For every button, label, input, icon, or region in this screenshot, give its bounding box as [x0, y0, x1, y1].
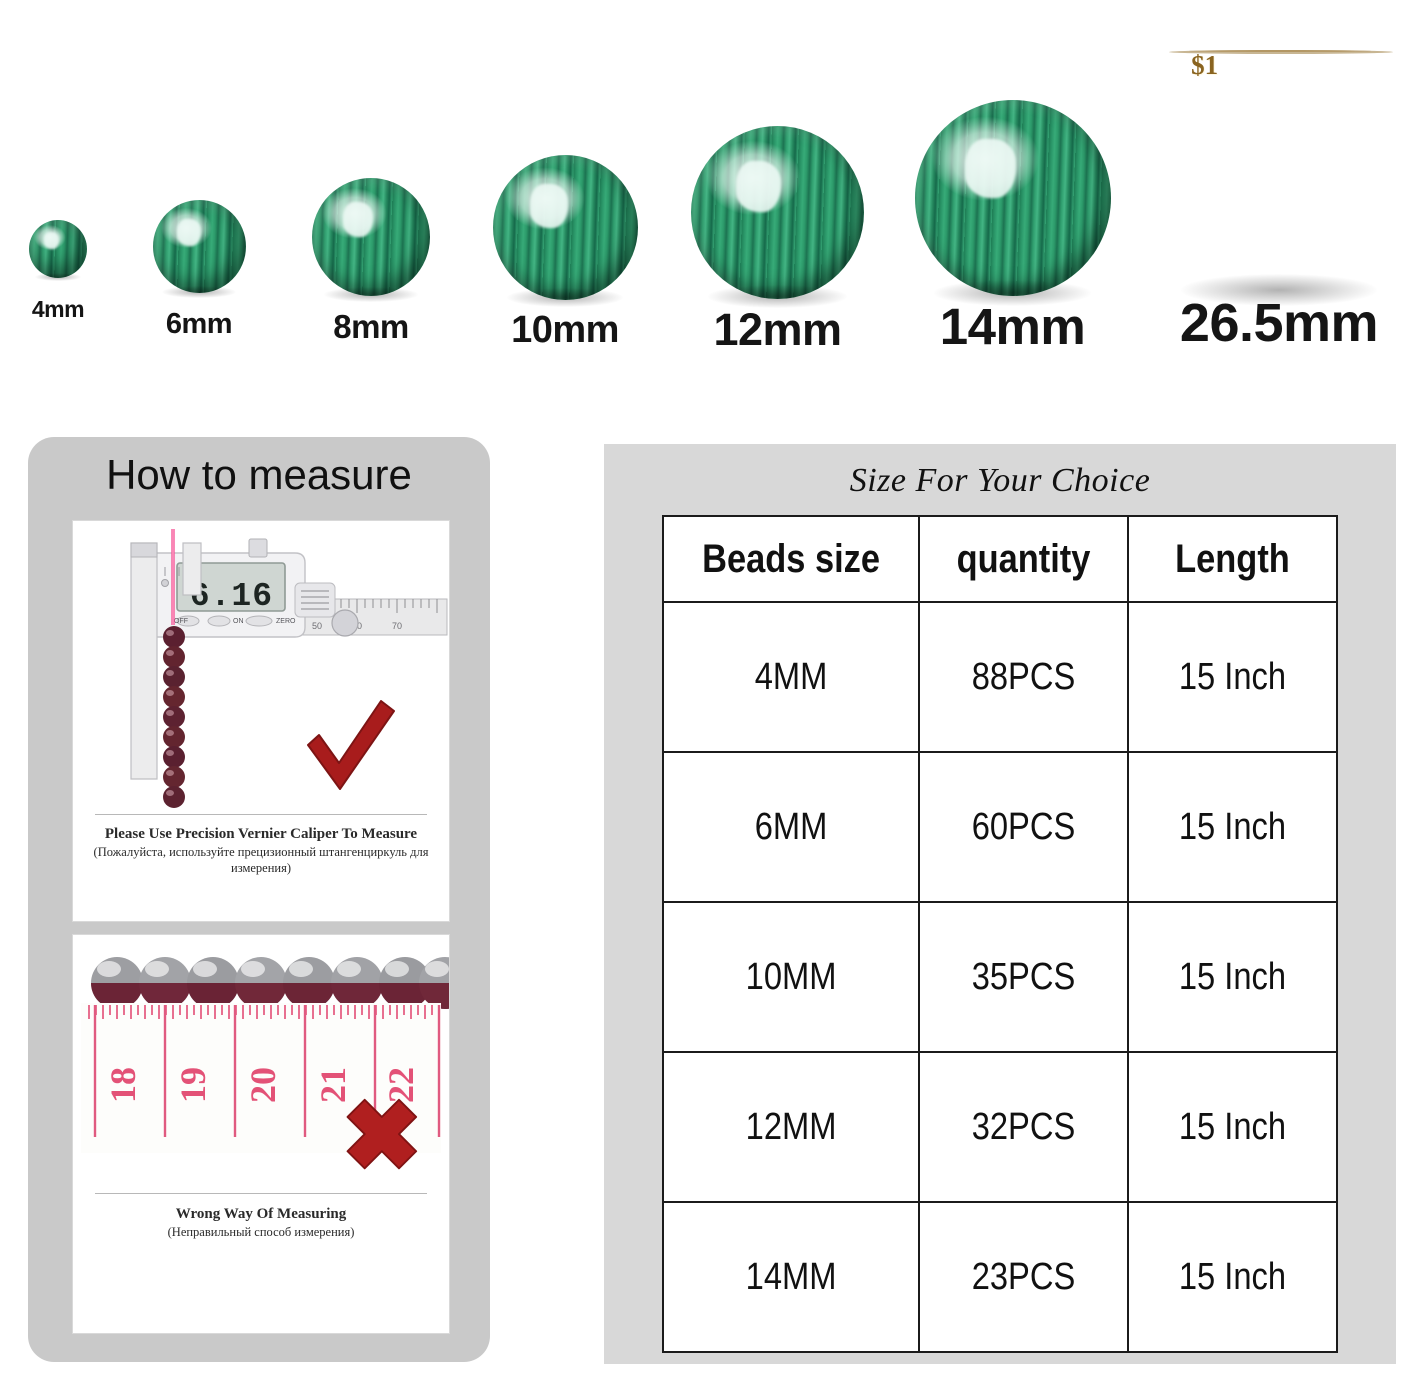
cell-length: 15 Inch — [1143, 902, 1323, 1052]
card-divider — [95, 814, 427, 815]
wrong-caption-en: Wrong Way Of Measuring — [73, 1205, 449, 1224]
svg-text:6.16: 6.16 — [190, 578, 273, 615]
correct-method-card: 50 60 70 mm 6.16 OFF ON ZERO — [72, 520, 450, 922]
malachite-bead-icon — [312, 178, 430, 296]
wrong-method-caption: Wrong Way Of Measuring (Неправильный спо… — [73, 1205, 449, 1240]
size-table-heading: Size For Your Choice — [604, 462, 1396, 500]
column-header-beads-size: Beads size — [681, 516, 901, 602]
size-sample-26-5mm-coin: UNITED STATES OF AMERICA — [1145, 50, 1413, 350]
digital-caliper-illustration: 50 60 70 mm 6.16 OFF ON ZERO — [73, 521, 449, 811]
table-row: 6MM 60PCS 15 Inch — [663, 752, 1337, 902]
cell-length: 15 Inch — [1143, 602, 1323, 752]
correct-method-caption: Please Use Precision Vernier Caliper To … — [73, 825, 449, 876]
coin-shadow — [1181, 274, 1376, 306]
bead-shadow — [708, 285, 846, 307]
cell-beads-size: 10MM — [681, 902, 901, 1052]
svg-text:19: 19 — [173, 1067, 213, 1103]
size-label-4mm: 4mm — [0, 298, 116, 321]
cell-length: 15 Inch — [1143, 752, 1323, 902]
size-sample-10mm: 10mm — [475, 155, 655, 350]
cell-length: 15 Inch — [1143, 1202, 1323, 1352]
malachite-bead-icon — [153, 200, 246, 293]
table-row: 4MM 88PCS 15 Inch — [663, 602, 1337, 752]
size-label-14mm: 14mm — [905, 301, 1120, 352]
malachite-bead-icon — [691, 126, 864, 299]
svg-text:ON: ON — [233, 618, 244, 625]
card-divider — [95, 1193, 427, 1194]
size-sample-4mm: 4mm — [0, 220, 116, 350]
how-to-measure-title: How to measure — [28, 451, 490, 499]
table-row: 10MM 35PCS 15 Inch — [663, 902, 1337, 1052]
size-label-12mm: 12mm — [680, 307, 875, 352]
svg-text:18: 18 — [103, 1067, 143, 1103]
size-sample-6mm: 6mm — [134, 200, 264, 350]
cell-beads-size: 14MM — [681, 1202, 901, 1352]
cell-quantity: 88PCS — [934, 602, 1114, 752]
svg-text:OFF: OFF — [174, 618, 188, 625]
size-table: Beads size quantity Length 4MM 88PCS 15 … — [662, 515, 1338, 1353]
size-table-panel: Size For Your Choice Beads size quantity… — [604, 444, 1396, 1364]
column-header-quantity: quantity — [934, 516, 1114, 602]
correct-caption-en: Please Use Precision Vernier Caliper To … — [73, 825, 449, 844]
coin-denomination: $1 — [1191, 50, 1218, 81]
malachite-bead-icon — [29, 220, 87, 278]
size-label-10mm: 10mm — [475, 311, 655, 349]
cell-quantity: 60PCS — [934, 752, 1114, 902]
wrong-caption-ru: (Неправильный способ измерения) — [73, 1224, 449, 1240]
size-label-8mm: 8mm — [297, 310, 445, 343]
how-to-measure-panel: How to measure 50 60 70 mm 6.16 — [28, 437, 490, 1362]
bead-shadow — [934, 280, 1091, 305]
table-header-row: Beads size quantity Length — [663, 516, 1337, 602]
cell-quantity: 35PCS — [934, 902, 1114, 1052]
bead-size-comparison-strip: 4mm 6mm 8mm 10mm 12mm — [0, 0, 1414, 350]
size-sample-8mm: 8mm — [297, 178, 445, 350]
malachite-bead-icon — [493, 155, 638, 300]
bead-shadow — [162, 286, 236, 298]
table-row: 12MM 32PCS 15 Inch — [663, 1052, 1337, 1202]
size-label-6mm: 6mm — [134, 310, 264, 339]
column-header-length: Length — [1143, 516, 1323, 602]
bead-shadow — [35, 273, 81, 281]
cell-beads-size: 6MM — [681, 752, 901, 902]
svg-text:50: 50 — [312, 621, 322, 631]
bead-shadow — [324, 287, 418, 302]
size-sample-14mm: 14mm — [905, 100, 1120, 350]
cell-quantity: 23PCS — [934, 1202, 1114, 1352]
size-sample-12mm: 12mm — [680, 126, 875, 350]
wrong-method-card: 18 19 20 21 22 Wrong Way Of Measuring (Н… — [72, 934, 450, 1334]
svg-text:70: 70 — [392, 621, 402, 631]
caliper-photo: 50 60 70 mm 6.16 OFF ON ZERO — [73, 521, 449, 811]
cell-beads-size: 4MM — [681, 602, 901, 752]
svg-text:ZERO: ZERO — [276, 618, 296, 625]
cell-length: 15 Inch — [1143, 1052, 1323, 1202]
tape-measure-photo: 18 19 20 21 22 — [73, 935, 449, 1190]
svg-text:20: 20 — [243, 1067, 283, 1103]
svg-text:22: 22 — [381, 1067, 421, 1103]
table-row: 14MM 23PCS 15 Inch — [663, 1202, 1337, 1352]
bead-shadow — [507, 288, 623, 307]
cell-quantity: 32PCS — [934, 1052, 1114, 1202]
malachite-bead-icon — [915, 100, 1111, 296]
svg-text:21: 21 — [313, 1067, 353, 1103]
correct-caption-ru: (Пожалуйста, используйте прецизионный шт… — [73, 844, 449, 877]
cell-beads-size: 12MM — [681, 1052, 901, 1202]
tape-measure-illustration: 18 19 20 21 22 — [73, 935, 449, 1190]
